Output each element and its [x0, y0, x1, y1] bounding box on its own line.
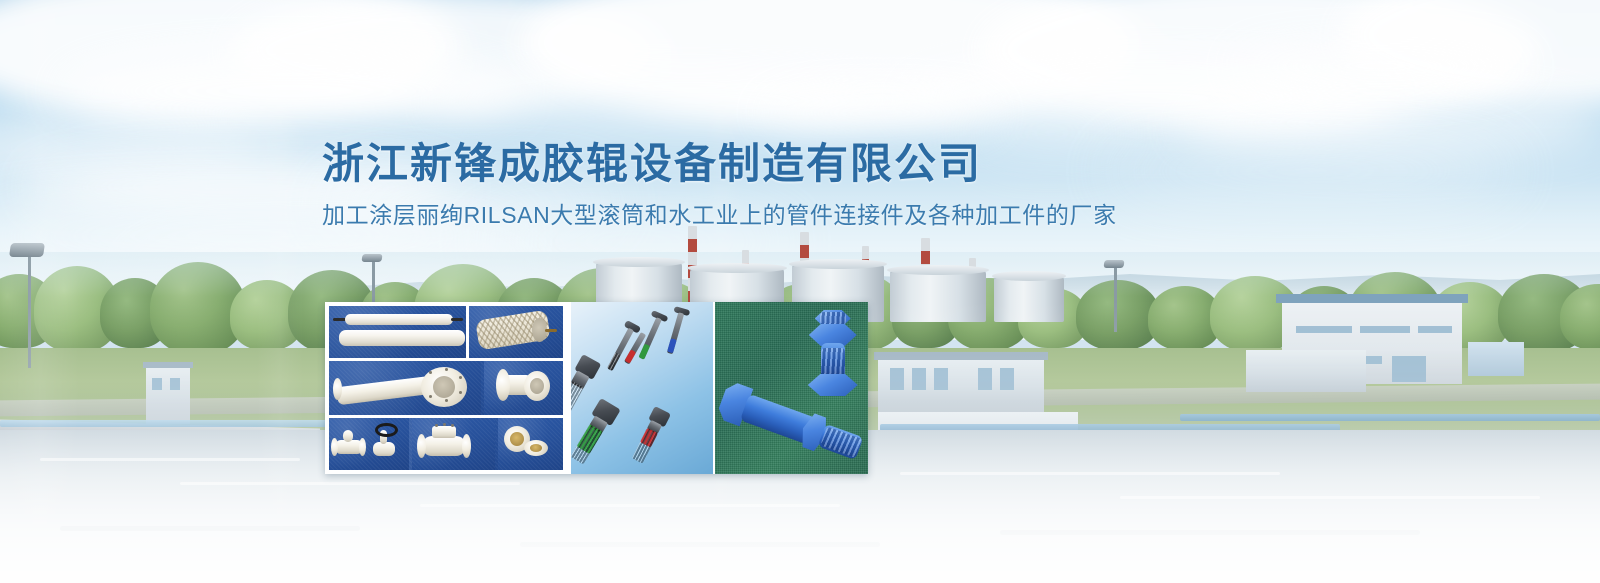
- product-tile-coated-roller-pair: [329, 306, 466, 358]
- cloud: [960, 120, 1140, 146]
- page-title: 浙江新锋成胶辊设备制造有限公司: [322, 130, 982, 191]
- product-tile-flanged-spool: [484, 361, 564, 415]
- product-tile-valve-discs: [498, 418, 563, 470]
- collage-panel-coated-bolts[interactable]: [567, 302, 714, 474]
- page-subtitle: 加工涂层丽绚RILSAN大型滚筒和水工业上的管件连接件及各种加工件的厂家: [322, 196, 1117, 230]
- product-collage[interactable]: [325, 302, 868, 474]
- hero-banner: 浙江新锋成胶辊设备制造有限公司 加工涂层丽绚RILSAN大型滚筒和水工业上的管件…: [0, 0, 1600, 583]
- product-tile-strainer-gate-valve: [329, 418, 409, 470]
- cloud: [760, 96, 1000, 130]
- collage-panel-coated-rollers[interactable]: [325, 302, 567, 474]
- product-tile-check-valve: [412, 418, 496, 470]
- cloud: [1230, 44, 1530, 88]
- product-tile-lined-pipe-flange: [329, 361, 481, 415]
- collage-panel-blue-coated-bolts[interactable]: [715, 302, 868, 474]
- cloud: [1180, 88, 1600, 158]
- product-tile-mesh-roller: [469, 306, 563, 358]
